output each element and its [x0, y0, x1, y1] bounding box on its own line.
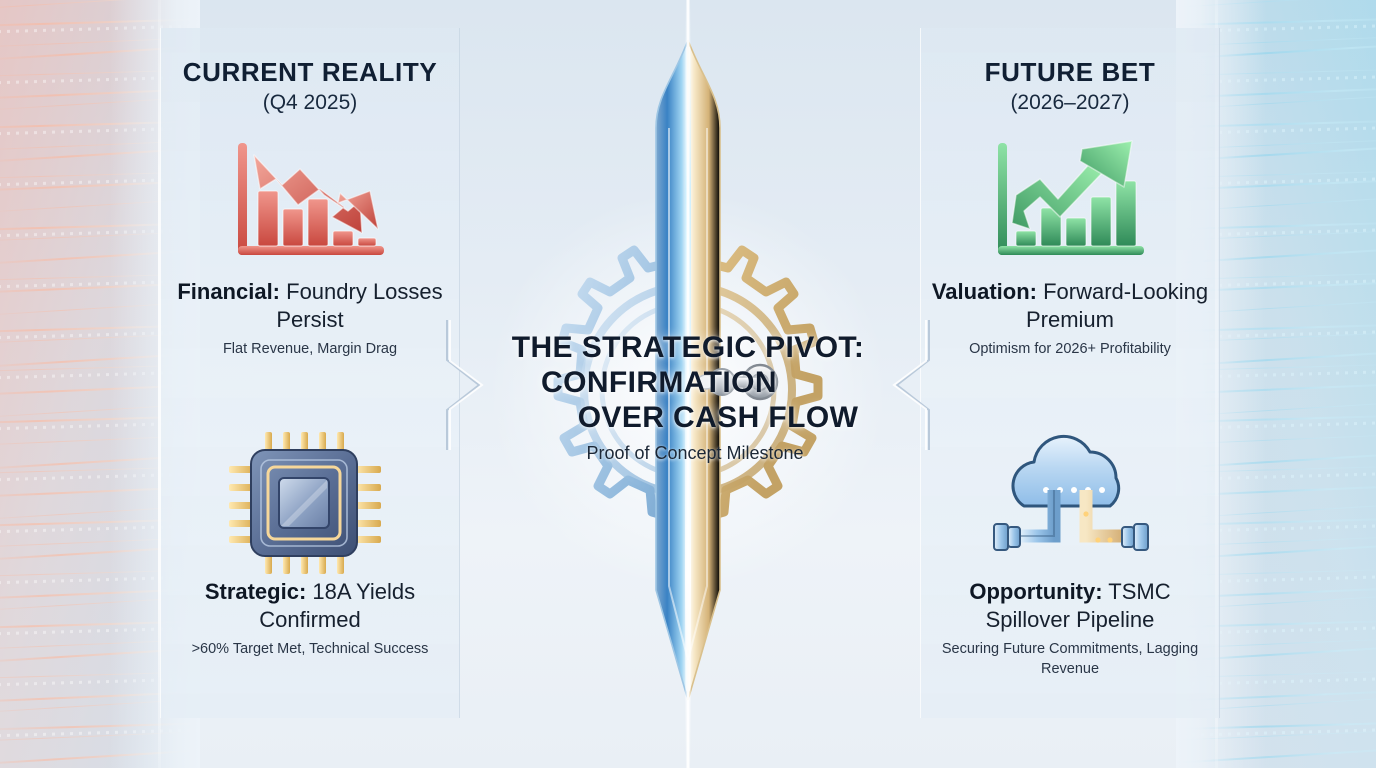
card-financial-heading: Financial: Foundry Losses Persist: [160, 278, 460, 334]
card-financial-label: Financial:: [177, 279, 280, 304]
card-strategic-heading: Strategic: 18A Yields Confirmed: [160, 578, 460, 634]
center-title-line2: CONFIRMATION: [450, 365, 926, 400]
rising-bar-chart-icon: [920, 128, 1220, 278]
panel-current-reality: CURRENT REALITY (Q4 2025): [160, 28, 460, 718]
card-strategic: Strategic: 18A Yields Confirmed >60% Tar…: [160, 428, 460, 660]
card-valuation-label: Valuation:: [932, 279, 1037, 304]
microchip-icon: [160, 428, 460, 578]
right-panel-title: FUTURE BET: [920, 58, 1220, 87]
center-title-line3: OVER CASH FLOW: [450, 400, 926, 435]
card-valuation: Valuation: Forward-Looking Premium Optim…: [920, 128, 1220, 360]
left-panel-subtitle: (Q4 2025): [160, 90, 460, 115]
declining-bar-chart-icon: [160, 128, 460, 278]
cloud-pipeline-icon: [920, 428, 1220, 578]
card-opportunity-label: Opportunity:: [969, 579, 1102, 604]
card-valuation-note: Optimism for 2026+ Profitability: [920, 340, 1220, 360]
infographic-canvas: CURRENT REALITY (Q4 2025): [0, 0, 1376, 768]
card-opportunity: Opportunity: TSMC Spillover Pipeline Sec…: [920, 428, 1220, 679]
card-strategic-label: Strategic:: [205, 579, 306, 604]
center-title-block: THE STRATEGIC PIVOT: CONFIRMATION OVER C…: [450, 330, 926, 464]
card-financial-text: Foundry Losses Persist: [276, 279, 442, 332]
panel-future-bet: FUTURE BET (2026–2027): [920, 28, 1220, 718]
card-valuation-text: Forward-Looking Premium: [1026, 279, 1208, 332]
left-panel-header: CURRENT REALITY (Q4 2025): [160, 58, 460, 115]
left-panel-title: CURRENT REALITY: [160, 58, 460, 87]
center-subtitle: Proof of Concept Milestone: [450, 443, 926, 464]
right-panel-header: FUTURE BET (2026–2027): [920, 58, 1220, 115]
right-panel-subtitle: (2026–2027): [920, 90, 1220, 115]
card-financial-note: Flat Revenue, Margin Drag: [160, 340, 460, 360]
card-financial: Financial: Foundry Losses Persist Flat R…: [160, 128, 460, 360]
card-strategic-note: >60% Target Met, Technical Success: [160, 640, 460, 660]
center-title-line1: THE STRATEGIC PIVOT:: [450, 330, 926, 365]
card-opportunity-heading: Opportunity: TSMC Spillover Pipeline: [920, 578, 1220, 634]
card-valuation-heading: Valuation: Forward-Looking Premium: [920, 278, 1220, 334]
center-emblem-group: THE STRATEGIC PIVOT: CONFIRMATION OVER C…: [460, 0, 916, 768]
card-opportunity-note: Securing Future Commitments, Lagging Rev…: [920, 640, 1220, 679]
